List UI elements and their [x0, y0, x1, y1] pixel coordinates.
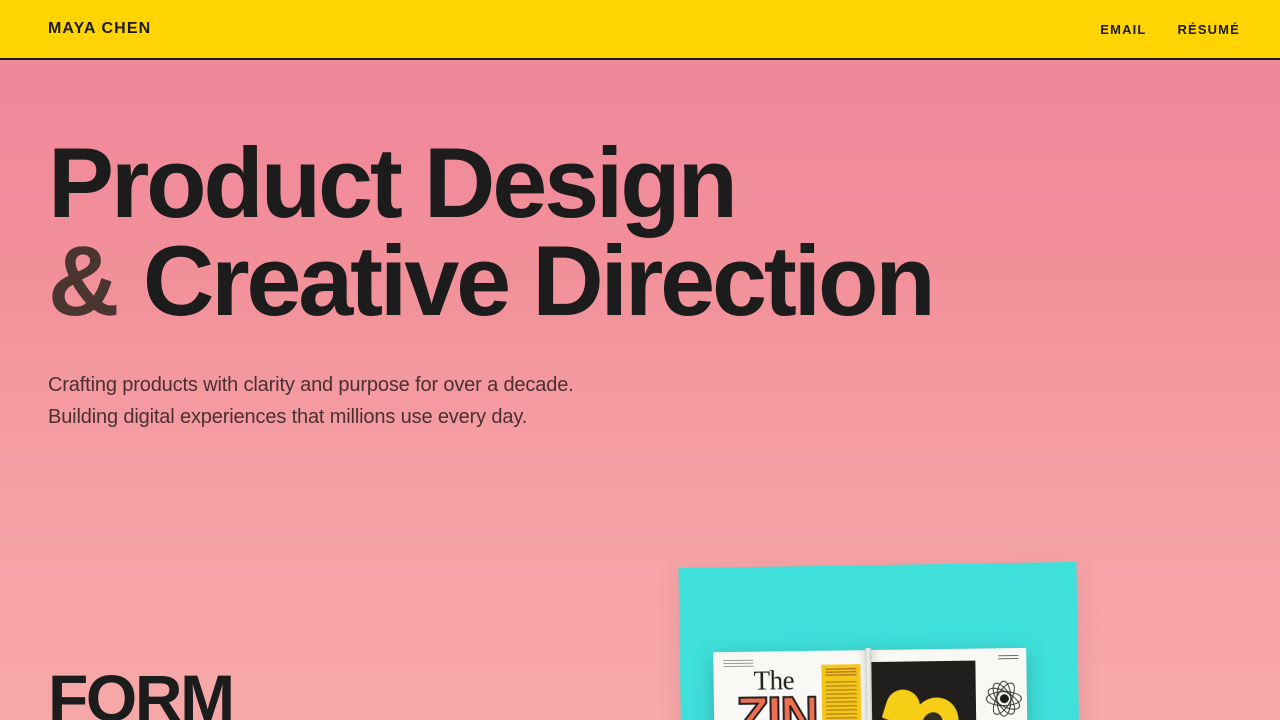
hero-title-line-1: Product Design: [48, 134, 1280, 232]
magazine-wordmark: ZIN: [736, 689, 818, 720]
hero-subtitle: Crafting products with clarity and purpo…: [48, 369, 1280, 433]
page-edge-left: [713, 656, 715, 720]
hero-subtitle-line-2: Building digital experiences that millio…: [48, 401, 1280, 433]
hero-title-line-2: & Creative Direction: [48, 232, 1280, 330]
hero-section: Product Design & Creative Direction Craf…: [0, 60, 1280, 433]
magazine-photo: The ZIN: [713, 646, 1035, 720]
showcase-image: The ZIN: [680, 565, 1078, 720]
magazine-black-panel: [871, 661, 976, 720]
hero-subtitle-line-1: Crafting products with clarity and purpo…: [48, 369, 1280, 401]
atom-diagram-icon: [984, 678, 1025, 719]
magazine-folio: [998, 655, 1018, 660]
magazine-column-body: [826, 681, 858, 720]
magazine-yellow-column: [821, 664, 861, 720]
ampersand-glyph: &: [48, 225, 119, 336]
site-header: MAYA CHEN EMAIL RÉSUMÉ: [0, 0, 1280, 60]
page-title: Product Design & Creative Direction: [48, 134, 1280, 329]
primary-nav: EMAIL RÉSUMÉ: [1100, 23, 1240, 36]
atom-nucleus: [1000, 694, 1009, 703]
magazine-right-page: [871, 648, 1028, 720]
nav-link-resume[interactable]: RÉSUMÉ: [1177, 23, 1240, 36]
section-heading-form: FORM: [48, 665, 233, 720]
magazine-left-page: The ZIN: [713, 650, 870, 720]
brand-logo[interactable]: MAYA CHEN: [48, 21, 151, 37]
page-edge-right: [1026, 652, 1028, 720]
magazine-masthead-text: [723, 660, 753, 668]
hero-title-line-2-text: Creative Direction: [143, 225, 933, 336]
nav-link-email[interactable]: EMAIL: [1100, 23, 1146, 36]
magazine-column-heading: [825, 668, 856, 677]
